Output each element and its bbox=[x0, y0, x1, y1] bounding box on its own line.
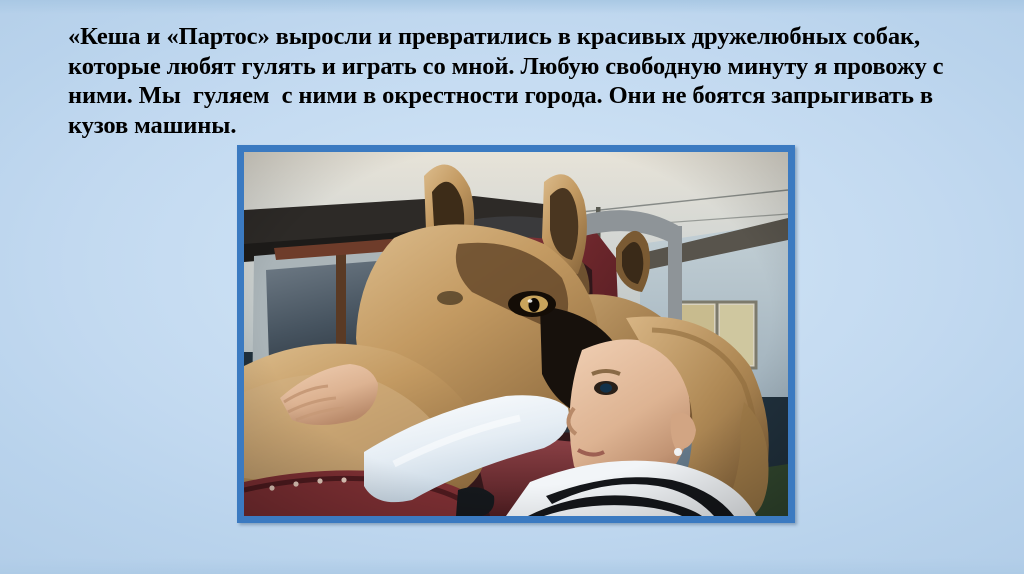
slide-canvas: «Кеша и «Партос» выросли и превратились … bbox=[0, 0, 1024, 574]
slide-caption-text: «Кеша и «Партос» выросли и превратились … bbox=[68, 22, 958, 140]
photo-frame bbox=[237, 145, 795, 523]
photograph-dogs-in-truck bbox=[244, 152, 788, 516]
